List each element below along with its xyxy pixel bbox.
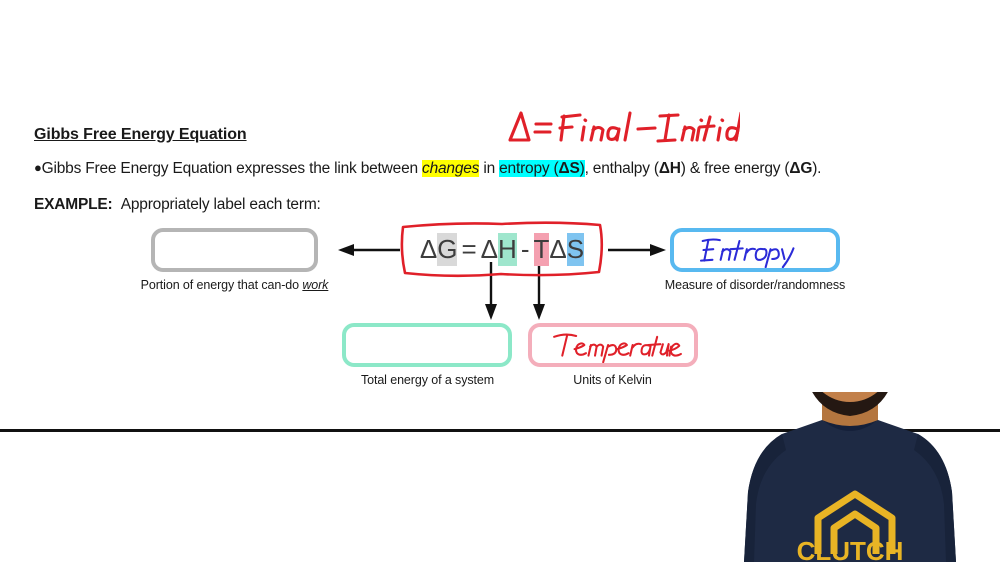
presenter-figure: CLUTCH [700, 392, 1000, 562]
bullet-marker: ● [34, 160, 42, 175]
bullet-text-after2: ) & free energy ( [681, 160, 790, 177]
handwritten-temperature [532, 327, 694, 363]
presenter-video-overlay: CLUTCH [700, 392, 1000, 562]
entropy-prefix: entropy ( [499, 160, 558, 177]
page-title: Gibbs Free Energy Equation [34, 126, 247, 144]
eq-token-delta-s: Δ [549, 233, 566, 266]
caption-entropy: Measure of disorder/randomness [655, 278, 855, 292]
equation-text: ΔG = ΔH - TΔS [400, 220, 604, 278]
caption-temperature: Units of Kelvin [530, 373, 695, 387]
eq-token-delta-h: Δ [481, 233, 498, 266]
caption-free-energy: Portion of energy that can-do work [131, 278, 338, 292]
eq-token-s: S [567, 233, 584, 266]
eq-token-t: T [534, 233, 550, 266]
example-line: EXAMPLE: Appropriately label each term: [34, 196, 321, 214]
answer-box-enthalpy[interactable] [342, 323, 512, 367]
caption-enthalpy: Total energy of a system [330, 373, 525, 387]
answer-box-temperature[interactable] [528, 323, 698, 367]
bullet-text-mid: in [479, 160, 499, 177]
eq-token-equals: = [457, 234, 480, 265]
answer-box-entropy[interactable] [670, 228, 840, 272]
caption-free-energy-main: Portion of energy that can-do [141, 278, 303, 292]
eq-token-minus: - [517, 234, 534, 265]
example-label: EXAMPLE: [34, 196, 113, 213]
shirt-wordmark: CLUTCH [797, 536, 904, 562]
enthalpy-symbol: ΔH [659, 160, 681, 177]
bullet-line: ●Gibbs Free Energy Equation expresses th… [34, 160, 821, 178]
highlight-changes: changes [422, 160, 479, 177]
entropy-symbol: ΔS [559, 160, 580, 177]
bullet-text-after: , enthalpy ( [585, 160, 659, 177]
arrow-right [608, 243, 668, 257]
caption-free-energy-emphasis: work [302, 278, 328, 292]
gibbs-equation: ΔG = ΔH - TΔS [400, 220, 604, 278]
handwritten-delta-note [490, 104, 740, 152]
free-energy-symbol: ΔG [789, 160, 812, 177]
example-instruction: Appropriately label each term: [121, 196, 321, 213]
eq-token-delta-g: Δ [420, 233, 437, 266]
arrow-left [336, 243, 402, 257]
eq-token-g: G [437, 233, 457, 266]
answer-box-free-energy[interactable] [151, 228, 318, 272]
handwritten-entropy [674, 232, 836, 268]
highlight-entropy: entropy (ΔS) [499, 160, 584, 177]
eq-token-h: H [498, 233, 517, 266]
bullet-text-before: Gibbs Free Energy Equation expresses the… [42, 160, 422, 177]
bullet-text-end: ). [812, 160, 821, 177]
handwritten-delta-svg [490, 104, 740, 152]
